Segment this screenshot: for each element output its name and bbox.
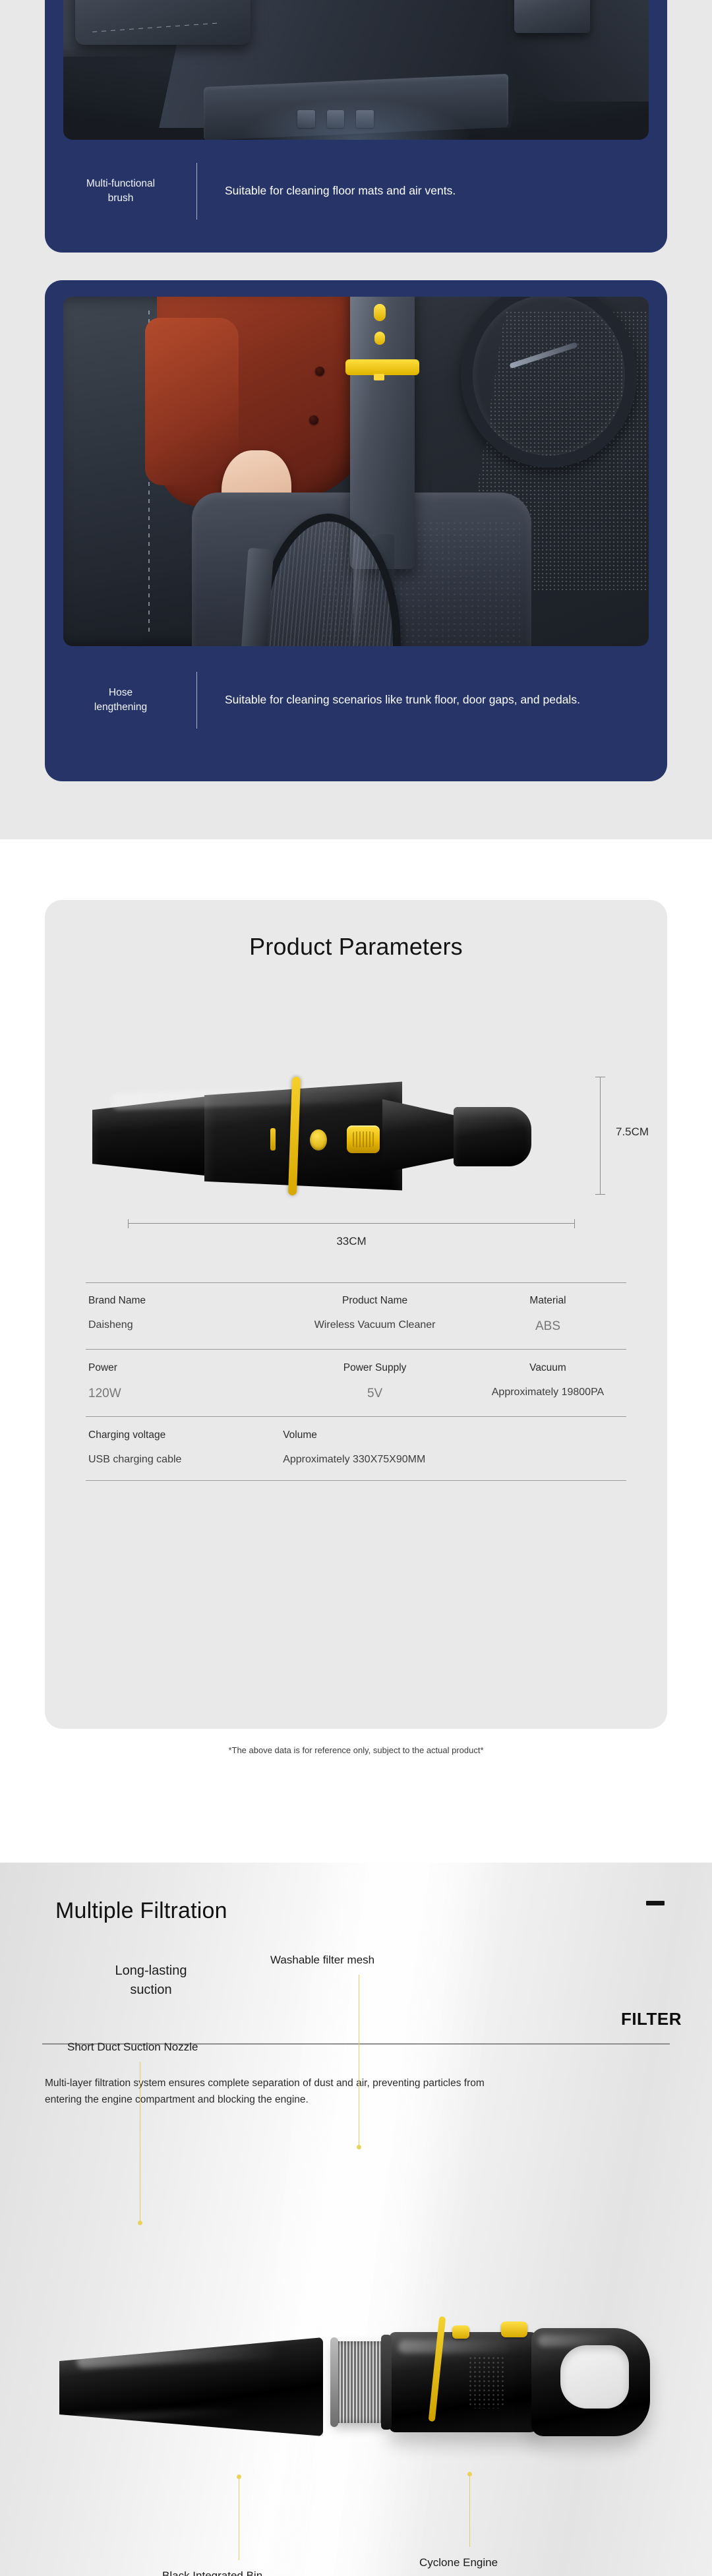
dimension-height: 7.5CM bbox=[592, 1073, 671, 1198]
spec-key: Vacuum bbox=[467, 1362, 629, 1375]
filtration-description: Multi-layer filtration system ensures co… bbox=[45, 2075, 506, 2108]
feature-label-line2: lengthening bbox=[94, 702, 147, 713]
black-integrated-bin-part bbox=[59, 2337, 323, 2436]
spec-value: Daisheng bbox=[88, 1318, 283, 1333]
spec-key: Volume bbox=[283, 1429, 629, 1442]
car-interior-illustration bbox=[63, 0, 649, 140]
feature-label-line2: brush bbox=[108, 193, 134, 204]
spec-value: 5V bbox=[283, 1385, 467, 1402]
filtration-subtitle-line2: suction bbox=[130, 1983, 171, 1997]
dimension-length: 33CM bbox=[124, 1216, 579, 1263]
feature-description: Suitable for cleaning floor mats and air… bbox=[197, 182, 667, 200]
spec-value: USB charging cable bbox=[88, 1453, 283, 1467]
handle-part bbox=[531, 2328, 650, 2436]
callout-label: Cyclone Engine bbox=[419, 2556, 498, 2569]
parameters-disclaimer-text: *The above data is for reference only, s… bbox=[228, 1744, 483, 1757]
spec-value: Wireless Vacuum Cleaner bbox=[283, 1318, 467, 1333]
dimension-length-value: 33CM bbox=[124, 1235, 579, 1248]
feature-row: Multi-functionalbrush Suitable for clean… bbox=[45, 152, 667, 231]
dash-icon bbox=[646, 1901, 665, 1905]
filter-badge: FILTER bbox=[621, 2009, 682, 2029]
spec-key: Product Name bbox=[283, 1294, 467, 1307]
callout-label: Black Integrated Bin bbox=[162, 2569, 262, 2576]
filtration-subtitle-line1: Long-lasting bbox=[115, 1963, 187, 1978]
table-cell: Vacuum Approximately 19800PA bbox=[467, 1362, 629, 1402]
parameters-card: Product Parameters 7.5CM bbox=[45, 900, 667, 1729]
exploded-product-diagram: Washable filter mesh Short Duct Suction … bbox=[0, 2146, 712, 2568]
spec-key: Brand Name bbox=[88, 1294, 283, 1307]
cyclone-engine-part bbox=[389, 2332, 541, 2432]
feature-cards-section: Multi-functionalbrush Suitable for clean… bbox=[0, 0, 712, 839]
washable-filter-mesh-part bbox=[333, 2341, 387, 2423]
product-parameters-section: Product Parameters 7.5CM bbox=[0, 839, 712, 1863]
spec-key: Power Supply bbox=[283, 1362, 467, 1375]
spec-key: Material bbox=[467, 1294, 629, 1307]
table-cell: Charging voltage USB charging cable bbox=[86, 1429, 283, 1467]
spec-value: Approximately 330X75X90MM bbox=[283, 1453, 629, 1467]
feature-row: Hoselengthening Suitable for cleaning sc… bbox=[45, 657, 667, 743]
feature-card-multifunctional-brush[interactable]: Multi-functionalbrush Suitable for clean… bbox=[45, 0, 667, 253]
feature-label-line1: Multi-functional bbox=[86, 178, 155, 189]
table-cell: Power Supply 5V bbox=[283, 1362, 467, 1402]
table-cell: Volume Approximately 330X75X90MM bbox=[283, 1429, 629, 1467]
product-detail-page: Multi-functionalbrush Suitable for clean… bbox=[0, 0, 712, 2576]
car-seat-hose-illustration bbox=[63, 297, 649, 646]
table-cell: Power 120W bbox=[86, 1362, 283, 1402]
feature-description: Suitable for cleaning scenarios like tru… bbox=[197, 691, 667, 709]
filtration-title: Multiple Filtration bbox=[55, 1898, 227, 1924]
spec-value: ABS bbox=[467, 1318, 629, 1335]
feature-photo-brush bbox=[63, 0, 649, 140]
table-cell: Brand Name Daisheng bbox=[86, 1294, 283, 1335]
table-row: Charging voltage USB charging cable Volu… bbox=[86, 1417, 626, 1482]
callout-label: Short Duct Suction Nozzle bbox=[67, 2041, 198, 2054]
callout-label: Washable filter mesh bbox=[270, 1954, 374, 1967]
spec-key: Charging voltage bbox=[88, 1429, 283, 1442]
vacuum-product-illustration bbox=[92, 1073, 554, 1198]
feature-label: Multi-functionalbrush bbox=[45, 177, 196, 206]
table-row: Power 120W Power Supply 5V Vacuum Approx… bbox=[86, 1350, 626, 1417]
specification-table: Brand Name Daisheng Product Name Wireles… bbox=[86, 1282, 626, 1481]
feature-label-line1: Hose bbox=[109, 687, 133, 698]
multiple-filtration-section: Multiple Filtration Long-lastingsuction … bbox=[0, 1863, 712, 2576]
spec-value: Approximately 19800PA bbox=[467, 1385, 629, 1400]
feature-label: Hoselengthening bbox=[45, 686, 196, 715]
yellow-button bbox=[452, 2325, 469, 2339]
yellow-switch bbox=[501, 2321, 527, 2337]
filtration-subtitle: Long-lastingsuction bbox=[69, 1962, 233, 2000]
spec-value: 120W bbox=[88, 1385, 283, 1402]
page-title: Product Parameters bbox=[45, 933, 667, 961]
table-row: Brand Name Daisheng Product Name Wireles… bbox=[86, 1282, 626, 1350]
table-cell: Material ABS bbox=[467, 1294, 629, 1335]
dimension-height-value: 7.5CM bbox=[616, 1125, 649, 1139]
table-cell: Product Name Wireless Vacuum Cleaner bbox=[283, 1294, 467, 1335]
feature-photo-hose bbox=[63, 297, 649, 646]
parameters-disclaimer: *The above data is for reference only, s… bbox=[0, 1744, 712, 1757]
feature-card-hose-lengthening[interactable]: Hoselengthening Suitable for cleaning sc… bbox=[45, 280, 667, 781]
spec-key: Power bbox=[88, 1362, 283, 1375]
